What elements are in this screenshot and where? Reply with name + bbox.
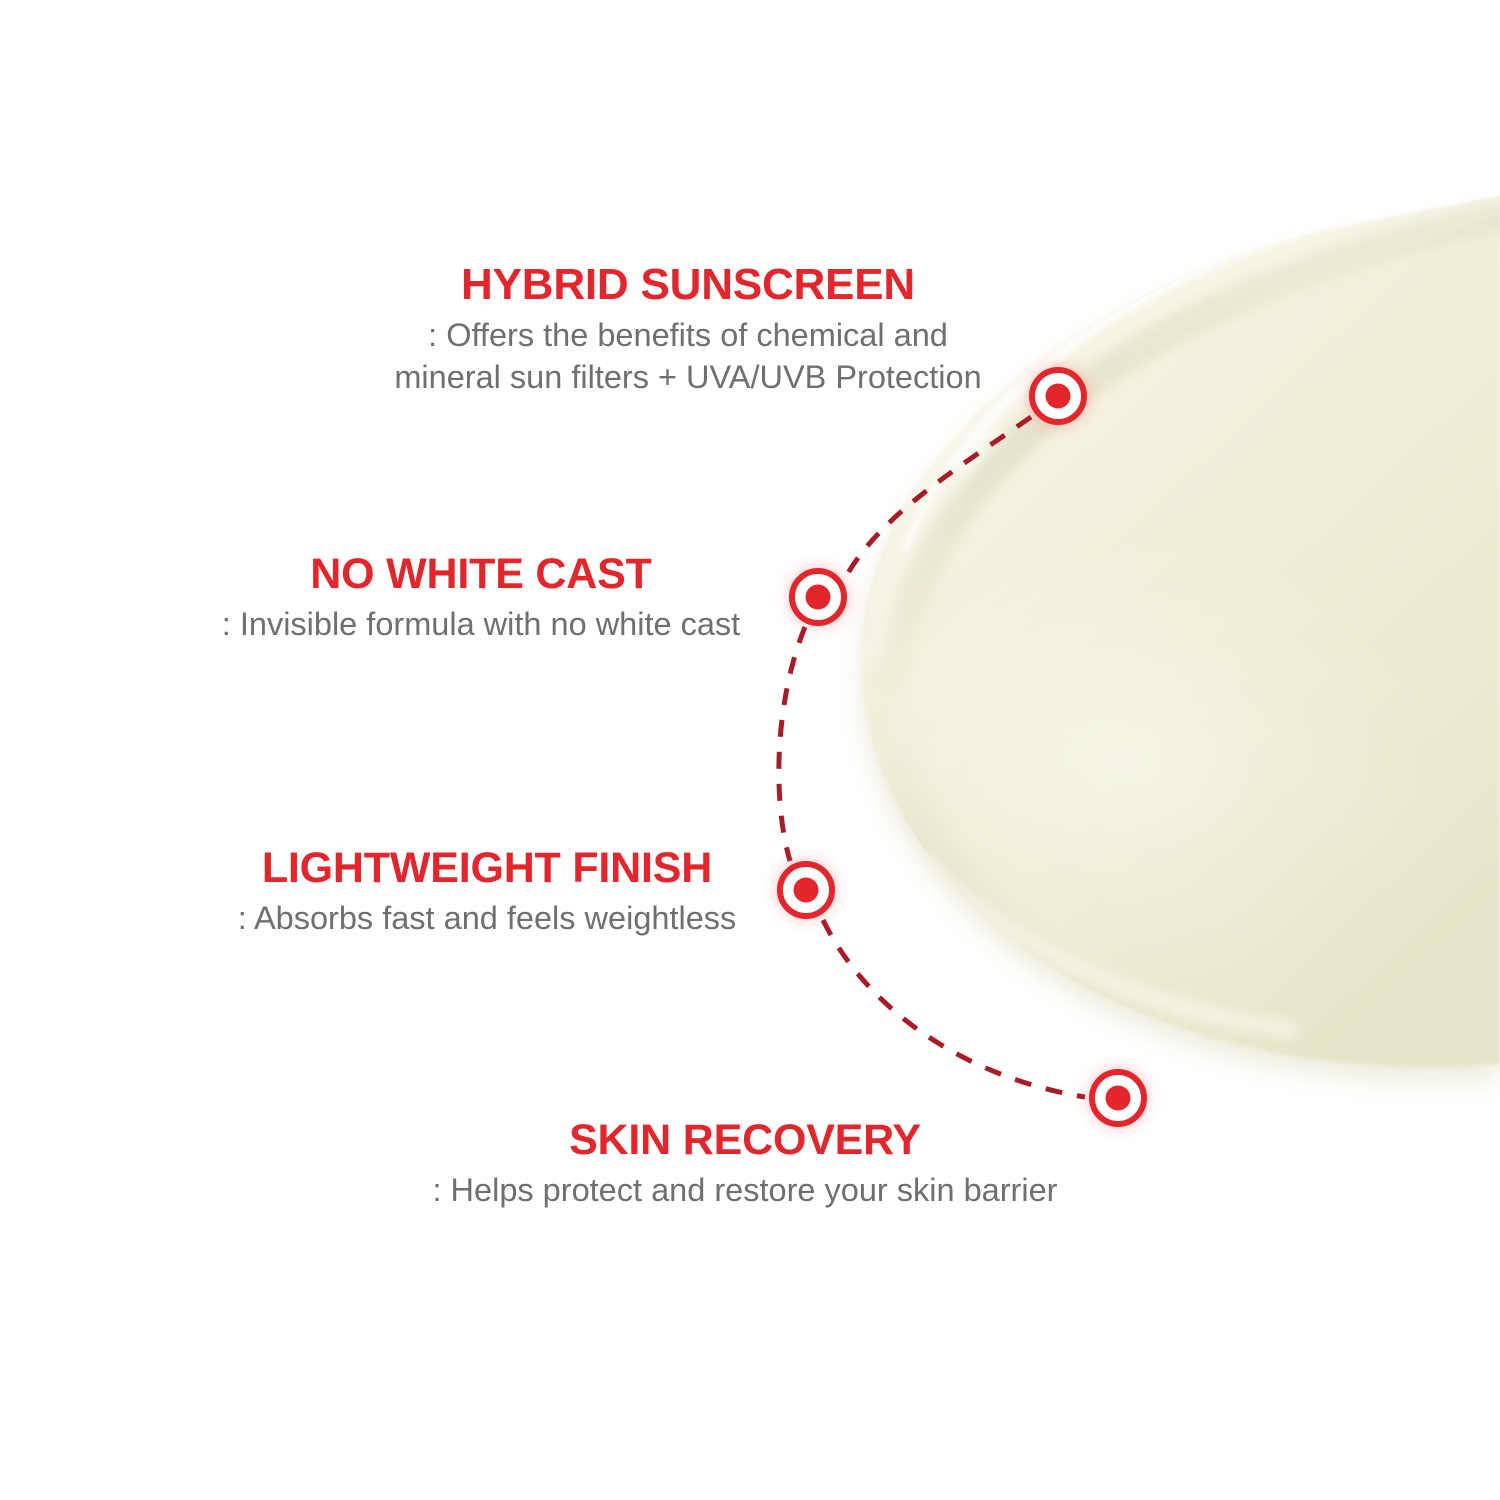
product-feature-infographic: HYBRID SUNSCREEN : Offers the benefits o…	[0, 0, 1500, 1500]
feature-block-hybrid-sunscreen: HYBRID SUNSCREEN : Offers the benefits o…	[358, 262, 1018, 398]
connector-nowhite-to-lightweight	[779, 627, 805, 861]
feature-description-lightweight-finish: : Absorbs fast and feels weightless	[202, 897, 772, 939]
connector-hybrid-to-nowhite	[848, 417, 1031, 573]
feature-title-skin-recovery: SKIN RECOVERY	[400, 1118, 1090, 1163]
marker-hybrid-sunscreen[interactable]	[1024, 362, 1092, 430]
feature-desc-line-1: : Helps protect and restore your skin ba…	[433, 1172, 1058, 1208]
connector-lightweight-to-skin	[823, 920, 1085, 1097]
feature-title-no-white-cast: NO WHITE CAST	[192, 552, 770, 597]
feature-desc-line-1: : Invisible formula with no white cast	[222, 606, 740, 642]
feature-title-lightweight-finish: LIGHTWEIGHT FINISH	[202, 846, 772, 891]
feature-block-lightweight-finish: LIGHTWEIGHT FINISH : Absorbs fast and fe…	[202, 846, 772, 939]
feature-block-skin-recovery: SKIN RECOVERY : Helps protect and restor…	[400, 1118, 1090, 1211]
marker-no-white-cast[interactable]	[784, 563, 852, 631]
dashed-connector-path	[779, 417, 1085, 1097]
feature-block-no-white-cast: NO WHITE CAST : Invisible formula with n…	[192, 552, 770, 645]
marker-skin-recovery[interactable]	[1084, 1064, 1152, 1132]
feature-description-no-white-cast: : Invisible formula with no white cast	[192, 603, 770, 645]
feature-desc-line-1: : Offers the benefits of chemical and	[428, 317, 948, 353]
feature-desc-line-2: mineral sun filters + UVA/UVB Protection	[394, 359, 981, 395]
feature-desc-line-1: : Absorbs fast and feels weightless	[238, 900, 737, 936]
marker-lightweight-finish[interactable]	[772, 856, 840, 924]
connector-and-marker-layer	[0, 0, 1500, 1500]
feature-description-skin-recovery: : Helps protect and restore your skin ba…	[400, 1169, 1090, 1211]
feature-title-hybrid-sunscreen: HYBRID SUNSCREEN	[358, 262, 1018, 308]
feature-description-hybrid-sunscreen: : Offers the benefits of chemical and mi…	[358, 314, 1018, 399]
